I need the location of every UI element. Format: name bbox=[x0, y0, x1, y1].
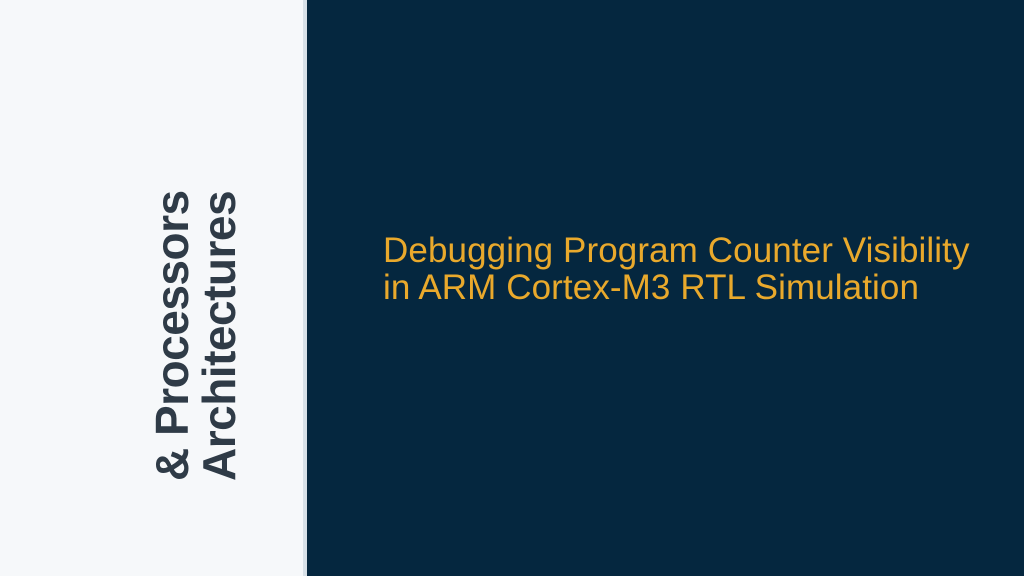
presentation-slide: Architectures & Processors Debugging Pro… bbox=[0, 0, 1024, 576]
sidebar-panel: Architectures & Processors bbox=[0, 0, 303, 576]
slide-title: Debugging Program Counter Visibility in … bbox=[383, 232, 973, 306]
sidebar-category-line-1: Architectures bbox=[196, 191, 242, 481]
sidebar-category-label: Architectures & Processors bbox=[0, 0, 303, 576]
content-panel: Debugging Program Counter Visibility in … bbox=[307, 0, 1024, 576]
sidebar-category-line-2: & Processors bbox=[149, 190, 195, 481]
